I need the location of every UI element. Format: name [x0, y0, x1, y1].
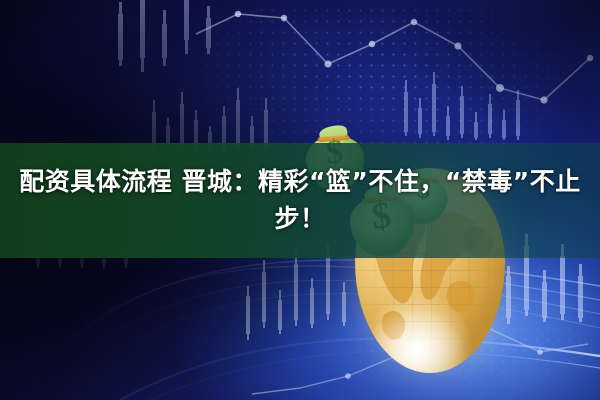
page-title: 配资具体流程 晋城：精彩“篮”不住，“禁毒”不止步！ [0, 143, 600, 258]
banner-image: $ $ $ 配资具体流程 晋城：精彩“篮”不住，“禁毒”不止步！ [0, 0, 600, 400]
